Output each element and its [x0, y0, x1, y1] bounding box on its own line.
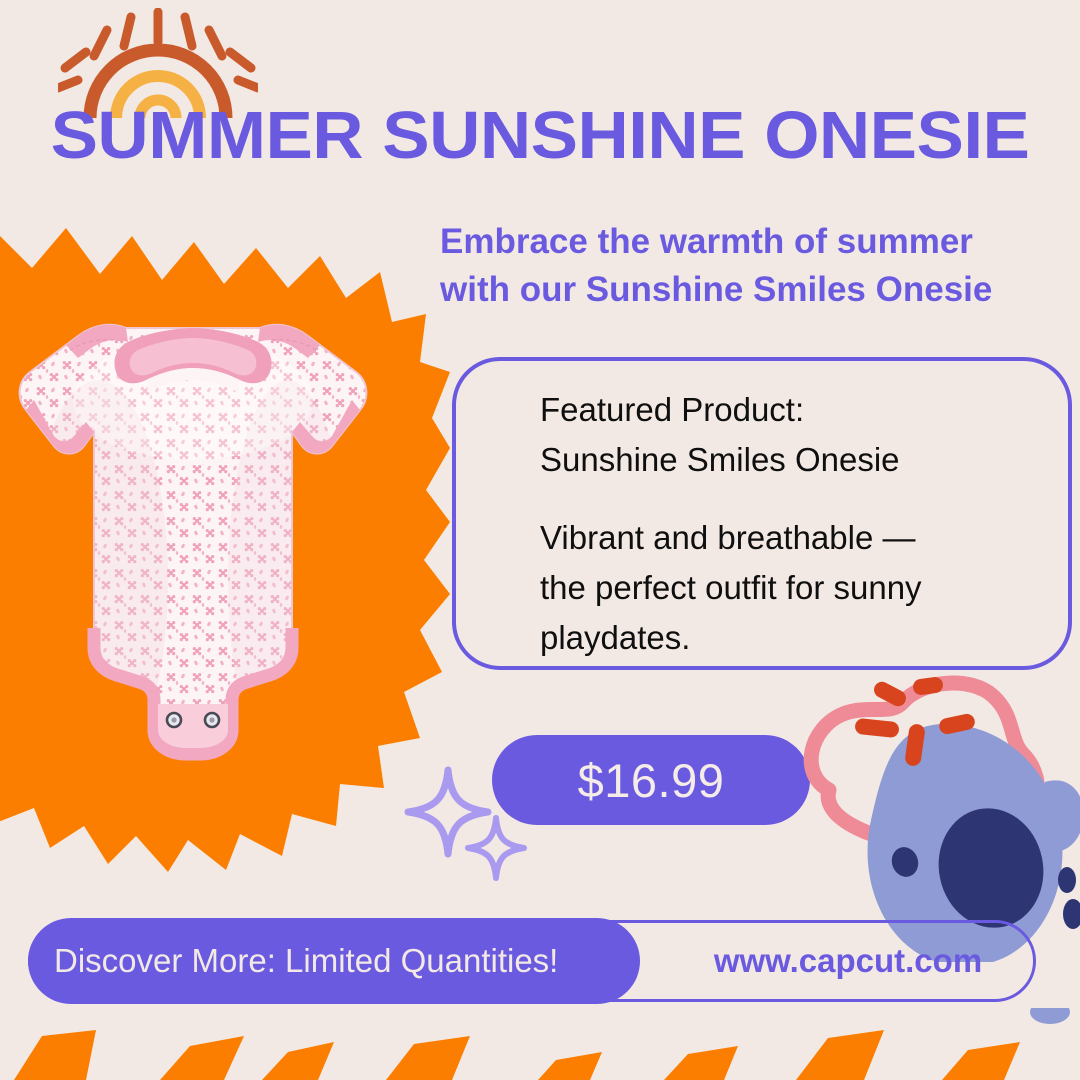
website-link[interactable]: www.capcut.com — [660, 918, 1036, 1004]
blurb-line-3: playdates. — [540, 613, 1010, 663]
poster-canvas: SUMMER SUNSHINE ONESIE Embrace the warmt… — [0, 0, 1080, 1080]
koala-mascot-icon — [795, 662, 1080, 962]
text-gap — [540, 485, 1010, 513]
subtitle-line-2: with our Sunshine Smiles Onesie — [440, 266, 1000, 314]
subtitle: Embrace the warmth of summer with our Su… — [440, 218, 1000, 314]
page-title: SUMMER SUNSHINE ONESIE — [0, 100, 1080, 172]
subtitle-line-1: Embrace the warmth of summer — [440, 218, 1000, 266]
website-url-text: www.capcut.com — [714, 942, 982, 980]
featured-label: Featured Product: — [540, 385, 1010, 435]
blurb-line-1: Vibrant and breathable — — [540, 513, 1010, 563]
featured-product-name: Sunshine Smiles Onesie — [540, 435, 1010, 485]
price-value: $16.99 — [578, 753, 725, 808]
brush-strokes-icon — [0, 1008, 1080, 1080]
baby-onesie-photo — [8, 280, 378, 800]
price-badge[interactable]: $16.99 — [492, 735, 810, 825]
discover-more-button[interactable]: Discover More: Limited Quantities! — [28, 918, 640, 1004]
featured-product-text: Featured Product: Sunshine Smiles Onesie… — [540, 385, 1010, 663]
blurb-line-2: the perfect outfit for sunny — [540, 563, 1010, 613]
cta-label: Discover More: Limited Quantities! — [28, 942, 558, 980]
